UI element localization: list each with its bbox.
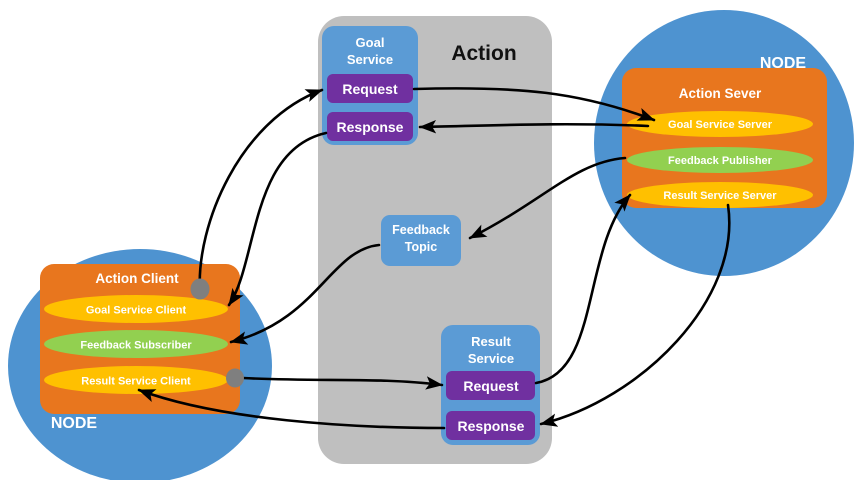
server-item-2-label: Result Service Server — [663, 190, 777, 202]
goal-service-title-line1: Goal — [356, 35, 385, 50]
result-service-title-line2: Service — [468, 351, 514, 366]
server-group-title: Action Sever — [679, 86, 762, 101]
goal-response-label: Response — [337, 119, 404, 135]
feedback-topic-title-line1: Feedback — [392, 223, 450, 237]
goal-service-box: Goal Service Request Response — [322, 26, 418, 145]
client-group-title: Action Client — [95, 271, 179, 286]
diagram-canvas: Action Action Client Goal Service Client… — [0, 0, 854, 480]
feedback-topic-title-line2: Topic — [405, 240, 437, 254]
action-container-label: Action — [451, 42, 516, 65]
server-node: Action Sever Goal Service Server Feedbac… — [594, 10, 854, 276]
arrow-goal-client-to-goal-request — [200, 90, 322, 291]
result-service-title-line1: Result — [471, 334, 511, 349]
result-service-box: Result Service Request Response — [441, 325, 540, 445]
goal-client-connector-dot[interactable] — [191, 279, 210, 300]
client-item-0-label: Goal Service Client — [86, 305, 187, 317]
goal-request-label: Request — [342, 81, 398, 97]
server-item-1-label: Feedback Publisher — [668, 155, 773, 167]
result-client-connector-dot[interactable] — [226, 369, 244, 388]
goal-service-title-line2: Service — [347, 52, 393, 67]
arrow-goal-response-to-goal-client — [229, 133, 326, 305]
result-response-label: Response — [458, 418, 525, 434]
client-node: Action Client Goal Service Client Feedba… — [8, 249, 272, 480]
client-item-2-label: Result Service Client — [81, 376, 191, 388]
server-node-label: NODE — [760, 55, 807, 72]
result-request-label: Request — [463, 378, 519, 394]
client-node-label: NODE — [51, 415, 98, 432]
feedback-topic-box[interactable]: Feedback Topic — [381, 215, 461, 266]
server-item-0-label: Goal Service Server — [668, 119, 773, 131]
client-item-1-label: Feedback Subscriber — [80, 340, 192, 352]
